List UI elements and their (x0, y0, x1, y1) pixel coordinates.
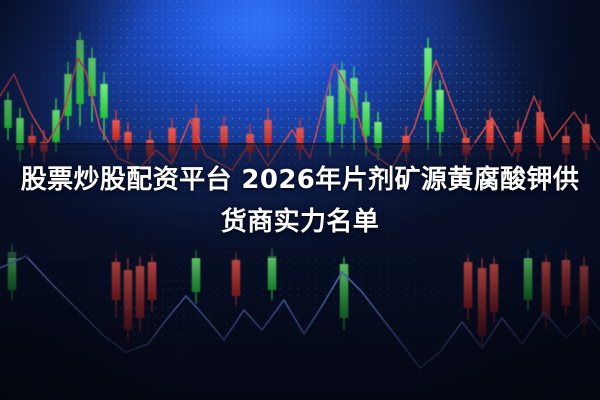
title-line-1: 股票炒股配资平台 2026年片剂矿源黄腐酸钾供 (21, 161, 580, 199)
banner-title: 股票炒股配资平台 2026年片剂矿源黄腐酸钾供 货商实力名单 (0, 143, 600, 258)
title-line-2: 货商实力名单 (221, 203, 379, 241)
banner-image: 股票炒股配资平台 2026年片剂矿源黄腐酸钾供 货商实力名单 (0, 0, 600, 400)
